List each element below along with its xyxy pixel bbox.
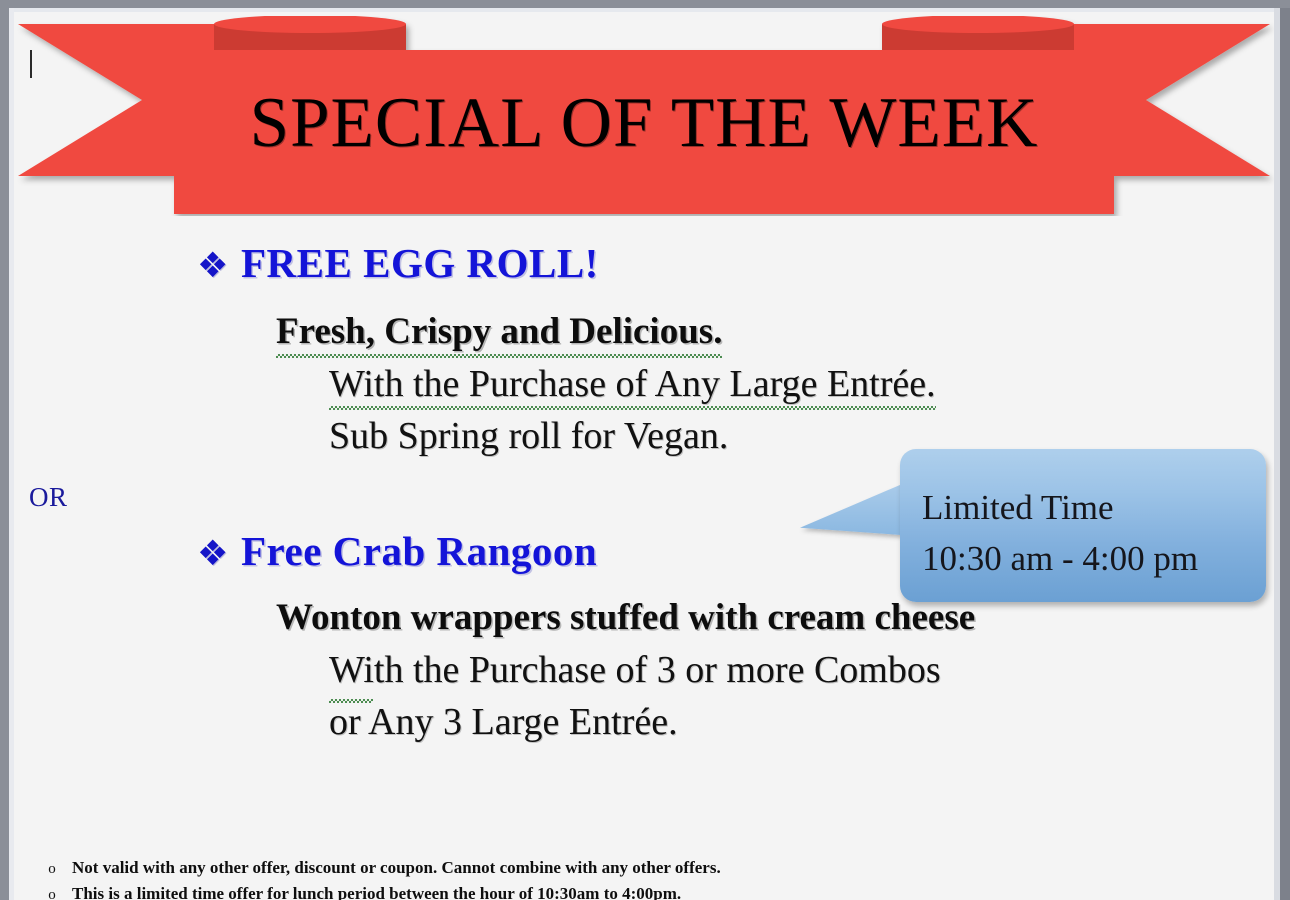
footer-bullet-icon: o [32,861,72,878]
footer-item-text: This is a limited time offer for lunch p… [72,883,681,900]
offer-detail-text-1: With the Purchase of Any Large Entrée. [329,362,936,406]
diamond-bullet-icon: ❖ [197,532,241,576]
footer-bullet-icon: o [32,887,72,900]
limited-time-callout: Limited Time 10:30 am - 4:00 pm [900,449,1266,602]
offer-heading-row: ❖ FREE EGG ROLL! [14,240,1274,288]
offer-heading: FREE EGG ROLL! [241,240,599,286]
footer-item-text: Not valid with any other offer, discount… [72,857,721,878]
window-top-border [0,0,1290,8]
document-page[interactable]: SPECIAL OF THE WEEK ❖ FREE EGG ROLL! Fre… [14,12,1274,900]
diamond-bullet-icon: ❖ [197,244,241,288]
offer-detail-line-1: With the Purchase of 3 or more Combos [329,648,941,692]
banner-title: SPECIAL OF THE WEEK [14,82,1274,164]
scrollbar-track[interactable] [1274,8,1280,900]
ribbon-banner: SPECIAL OF THE WEEK [14,16,1274,216]
offer-detail-line-1: With the Purchase of Any Large Entrée. [329,362,936,406]
footer-item: o This is a limited time offer for lunch… [32,883,1232,900]
window-left-border [0,8,9,900]
callout-text: Limited Time 10:30 am - 4:00 pm [922,482,1198,584]
offer-detail-text-1: With the Purchase of 3 or more Combos [329,649,941,691]
document-window: SPECIAL OF THE WEEK ❖ FREE EGG ROLL! Fre… [0,0,1290,900]
offer-subheading-text: Wonton wrappers stuffed with cream chees… [276,597,975,638]
callout-tail-icon [798,481,910,571]
callout-line-1: Limited Time [922,482,1198,533]
offer-heading: Free Crab Rangoon [241,528,597,574]
offer-detail-line-2: or Any 3 Large Entrée. [329,700,678,744]
offer-subheading: Fresh, Crispy and Delicious. [276,310,722,354]
offer-subheading: Wonton wrappers stuffed with cream chees… [276,596,975,640]
offer-detail-text-2: or Any 3 Large Entrée. [329,701,678,743]
footer-fine-print: o Not valid with any other offer, discou… [32,857,1232,900]
vertical-scrollbar[interactable] [1280,8,1290,900]
offer-subheading-text: Fresh, Crispy and Delicious. [276,310,722,354]
callout-line-2: 10:30 am - 4:00 pm [922,533,1198,584]
offer-block-egg-roll: ❖ FREE EGG ROLL! Fresh, Crispy and Delic… [14,240,1274,288]
or-divider-label: OR [29,482,68,513]
offer-detail-line-2: Sub Spring roll for Vegan. [329,414,728,458]
offer-detail-text-2: Sub Spring roll for Vegan. [329,415,728,457]
footer-item: o Not valid with any other offer, discou… [32,857,1232,878]
